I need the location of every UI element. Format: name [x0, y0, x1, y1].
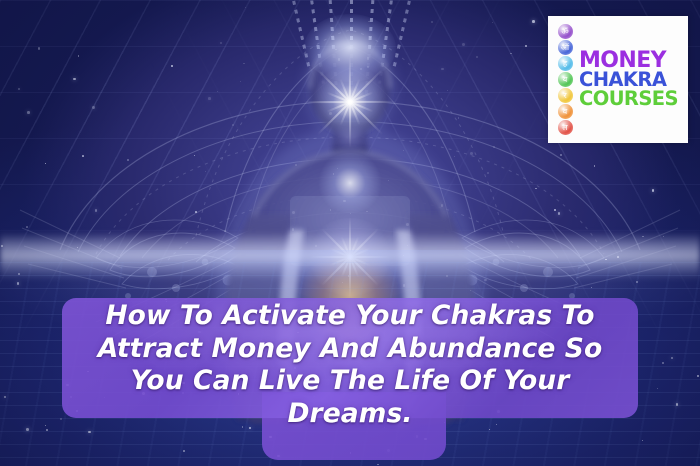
logo-solar-plexus-chakra-icon: र	[558, 88, 573, 103]
logo-throat-chakra-icon: ह	[558, 56, 573, 71]
heart-chakra-glow	[306, 218, 394, 296]
crown-chakra-glow	[304, 14, 396, 82]
logo-sacral-chakra-icon: व	[558, 104, 573, 119]
throat-chakra-glow	[316, 153, 384, 213]
logo-wordmark: MONEY CHAKRA COURSES	[579, 50, 688, 109]
page-title: How To Activate Your Chakras To Attract …	[80, 300, 620, 431]
logo-third-eye-chakra-icon: ऑ	[558, 40, 573, 55]
logo-heart-chakra-icon: य	[558, 72, 573, 87]
logo-chakra-column: ॐऑहयरवल	[552, 24, 578, 135]
logo-card[interactable]: ॐऑहयरवल MONEY CHAKRA COURSES	[548, 16, 688, 143]
third-eye-chakra-glow	[310, 62, 390, 142]
horizon-mist	[0, 232, 700, 280]
logo-root-chakra-icon: ल	[558, 120, 573, 135]
logo-line-courses: COURSES	[579, 90, 688, 109]
logo-crown-chakra-icon: ॐ	[558, 24, 573, 39]
title-container: How To Activate Your Chakras To Attract …	[0, 296, 700, 466]
promotional-banner-image: ॐऑहयरवल MONEY CHAKRA COURSES How To Acti…	[0, 0, 700, 466]
title-banner: How To Activate Your Chakras To Attract …	[0, 296, 700, 466]
